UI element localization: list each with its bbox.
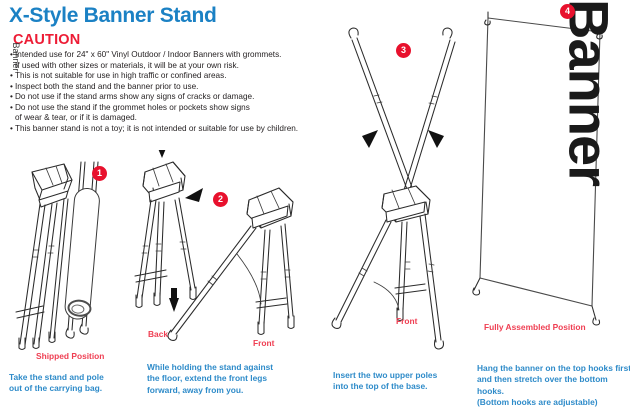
diagonal-arrow-icon [185,188,203,202]
step4-caption-line1: Hang the banner on the top hooks first [477,363,630,374]
down-arrow-shaft-icon-2 [171,288,177,298]
page-title: X-Style Banner Stand [9,4,217,28]
step-badge-1: 1 [92,166,107,181]
caution-item: • This banner stand is not a toy; it is … [10,124,330,135]
caution-item-text: Do not use if the stand arms show any si… [15,92,330,103]
step1-state-label: Shipped Position [36,351,104,361]
folded-base-hub [32,164,72,207]
step-badge-2: 2 [213,192,228,207]
down-arrow-icon [157,150,167,158]
down-arrow-icon-2 [169,298,179,312]
caution-item-text: This is not suitable for use in high tra… [15,71,330,82]
caution-item-text: Do not use the stand if the grommet hole… [15,103,330,114]
step4-state-label: Fully Assembled Position [484,322,586,332]
caution-item-text: Inspect both the stand and the banner pr… [15,82,330,93]
step3-illustration [322,10,482,360]
step1-caption: Take the stand and pole out of the carry… [9,372,159,395]
caution-item-text: Intended use for 24" x 60" Vinyl Outdoor… [15,50,330,61]
step2-caption-line2: the floor, extend the front legs [147,373,312,384]
hook-bottom-left-icon [473,278,480,295]
caution-item-text-continued: If used with other sizes or materials, i… [10,61,330,72]
base-hub [382,186,430,222]
step4-caption-line3: (Bottom hooks are adjustable) [477,397,630,408]
step4-caption-line2: and then stretch over the bottom hooks. [477,374,630,397]
caution-item-text: This banner stand is not a toy; it is no… [15,124,330,135]
hook-bottom-right-icon [592,306,600,325]
step2-illustration [133,150,323,350]
step2-back-label: Back [148,329,168,339]
caution-item: • Inspect both the stand and the banner … [10,82,330,93]
step2-front-label: Front [253,338,274,348]
step3-front-label: Front [396,316,417,326]
caution-item: • Do not use the stand if the grommet ho… [10,103,330,114]
stand-back-view [135,162,196,308]
step1-caption-line1: Take the stand and pole [9,372,159,383]
insert-arrow-right-icon [428,130,444,148]
insert-arrow-left-icon [362,130,378,148]
step-badge-3: 3 [396,43,411,58]
caution-item: • Do not use if the stand arms show any … [10,92,330,103]
rolled-banner-label: Banner [11,27,21,87]
banner-sheet-text: Banner [557,0,622,193]
step2-caption-line3: forward, away from you. [147,385,312,396]
step3-caption: Insert the two upper poles into the top … [333,370,493,393]
step2-caption-line1: While holding the stand against [147,362,312,373]
step1-caption-line2: out of the carrying bag. [9,383,159,394]
instruction-sheet: X-Style Banner Stand CAUTION • Intended … [0,0,630,402]
step2-caption: While holding the stand against the floo… [147,362,312,396]
caution-item-text-continued: of wear & tear, or if it is damaged. [10,113,330,124]
caution-heading: CAUTION [13,32,80,48]
caution-list: • Intended use for 24" x 60" Vinyl Outdo… [10,50,330,134]
caution-item: • Intended use for 24" x 60" Vinyl Outdo… [10,50,330,61]
step3-caption-line1: Insert the two upper poles [333,370,493,381]
step-badge-4: 4 [560,4,575,19]
tripod-legs [332,214,444,349]
caution-item: • This is not suitable for use in high t… [10,71,330,82]
step3-caption-line2: into the top of the base. [333,381,493,392]
folded-legs [16,199,68,350]
